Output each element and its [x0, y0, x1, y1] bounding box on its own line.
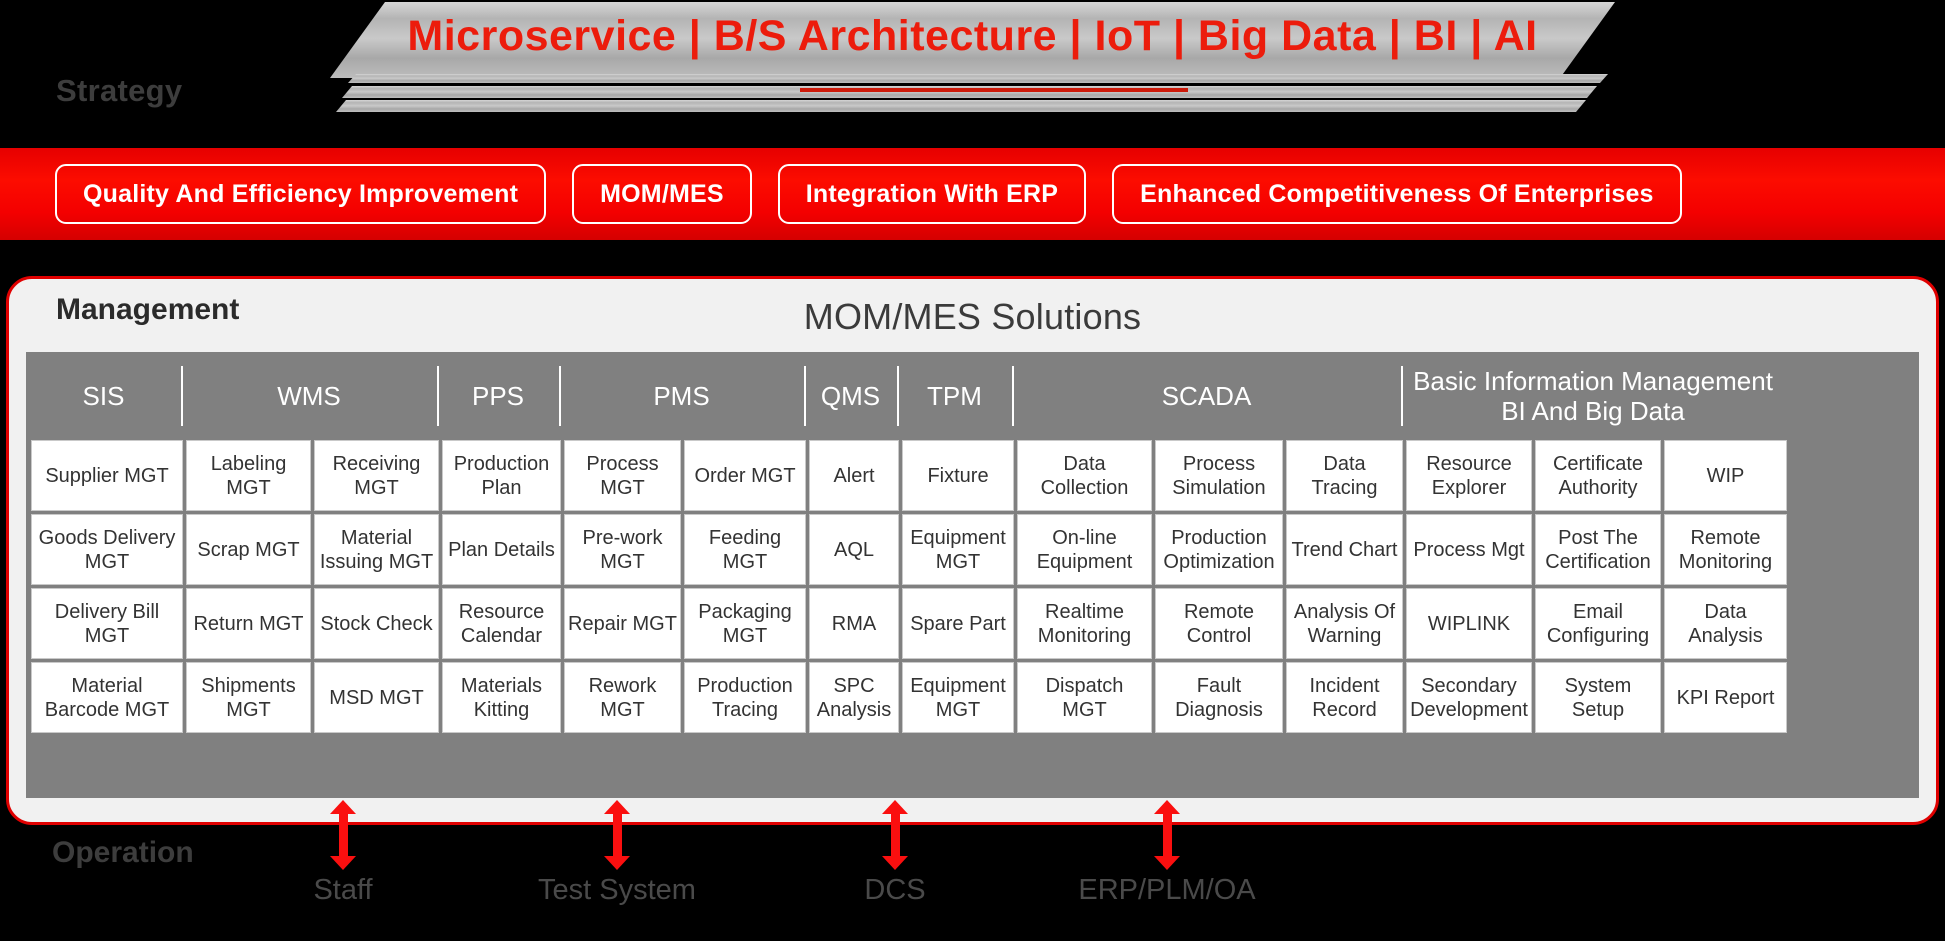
module-cell[interactable]: Fixture — [902, 440, 1014, 511]
module-cell[interactable]: Rework MGT — [564, 662, 681, 733]
module-cell[interactable]: Dispatch MGT — [1017, 662, 1152, 733]
banner-slab-4 — [336, 100, 1586, 112]
module-cell[interactable]: Data Collection — [1017, 440, 1152, 511]
table-row: Supplier MGTLabeling MGTReceiving MGTPro… — [31, 440, 1914, 511]
module-cell[interactable]: Plan Details — [442, 514, 561, 585]
arrow-shaft — [1163, 811, 1172, 859]
module-cell[interactable]: Realtime Monitoring — [1017, 588, 1152, 659]
module-cell[interactable]: Return MGT — [186, 588, 311, 659]
table-group-header: SIS — [26, 352, 181, 440]
operation-item-label: Staff — [228, 874, 458, 907]
banner-slab-2 — [348, 74, 1608, 83]
table-group-header: Basic Information ManagementBI And Big D… — [1401, 352, 1785, 440]
module-cell[interactable]: Spare Part — [902, 588, 1014, 659]
module-cell[interactable]: Incident Record — [1286, 662, 1403, 733]
arrow-head-up-icon — [330, 800, 356, 814]
module-cell[interactable]: Data Tracing — [1286, 440, 1403, 511]
operation-label: Operation — [52, 836, 194, 870]
module-cell[interactable]: Material Barcode MGT — [31, 662, 183, 733]
module-cell[interactable]: Scrap MGT — [186, 514, 311, 585]
module-cell[interactable]: Production Tracing — [684, 662, 806, 733]
double-arrow-icon — [1154, 800, 1180, 870]
page-title: MOM/MES Solutions — [0, 296, 1945, 338]
arrow-head-up-icon — [604, 800, 630, 814]
module-cell[interactable]: Analysis Of Warning — [1286, 588, 1403, 659]
module-cell[interactable]: WIPLINK — [1406, 588, 1532, 659]
module-cell[interactable]: WIP — [1664, 440, 1787, 511]
table-row: Material Barcode MGTShipments MGTMSD MGT… — [31, 662, 1914, 733]
table-row: Goods Delivery MGTScrap MGTMaterial Issu… — [31, 514, 1914, 585]
module-cell[interactable]: Resource Calendar — [442, 588, 561, 659]
operation-item: Test System — [502, 800, 732, 907]
objective-pill[interactable]: Integration With ERP — [778, 164, 1086, 224]
arrow-head-down-icon — [330, 856, 356, 870]
module-cell[interactable]: SPC Analysis — [809, 662, 899, 733]
module-cell[interactable]: Certificate Authority — [1535, 440, 1661, 511]
module-cell[interactable]: Packaging MGT — [684, 588, 806, 659]
module-cell[interactable]: RMA — [809, 588, 899, 659]
operation-item-label: ERP/PLM/OA — [1052, 874, 1282, 907]
module-cell[interactable]: Labeling MGT — [186, 440, 311, 511]
module-cell[interactable]: Email Configuring — [1535, 588, 1661, 659]
table-group-header: PMS — [559, 352, 804, 440]
module-cell[interactable]: Remote Monitoring — [1664, 514, 1787, 585]
table-body: Supplier MGTLabeling MGTReceiving MGTPro… — [26, 440, 1919, 738]
double-arrow-icon — [330, 800, 356, 870]
arrow-shaft — [891, 811, 900, 859]
objective-pill[interactable]: Quality And Efficiency Improvement — [55, 164, 546, 224]
strategy-banner: Microservice | B/S Architecture | IoT | … — [0, 0, 1945, 148]
module-cell[interactable]: Receiving MGT — [314, 440, 439, 511]
operation-item: ERP/PLM/OA — [1052, 800, 1282, 907]
tech-stack-title: Microservice | B/S Architecture | IoT | … — [330, 12, 1615, 61]
module-cell[interactable]: Resource Explorer — [1406, 440, 1532, 511]
table-group-header: SCADA — [1012, 352, 1401, 440]
module-cell[interactable]: Post The Certification — [1535, 514, 1661, 585]
module-cell[interactable]: Delivery Bill MGT — [31, 588, 183, 659]
solutions-table: SISWMSPPSPMSQMSTPMSCADABasic Information… — [26, 352, 1919, 798]
module-cell[interactable]: Supplier MGT — [31, 440, 183, 511]
module-cell[interactable]: KPI Report — [1664, 662, 1787, 733]
table-group-header: TPM — [897, 352, 1012, 440]
module-cell[interactable]: Process Simulation — [1155, 440, 1283, 511]
module-cell[interactable]: Alert — [809, 440, 899, 511]
slide-root: Microservice | B/S Architecture | IoT | … — [0, 0, 1945, 941]
module-cell[interactable]: Production Optimization — [1155, 514, 1283, 585]
module-cell[interactable]: Shipments MGT — [186, 662, 311, 733]
module-cell[interactable]: Data Analysis — [1664, 588, 1787, 659]
objective-pill[interactable]: Enhanced Competitiveness Of Enterprises — [1112, 164, 1682, 224]
module-cell[interactable]: Pre-work MGT — [564, 514, 681, 585]
module-cell[interactable]: Materials Kitting — [442, 662, 561, 733]
banner-underline — [800, 88, 1188, 92]
module-cell[interactable]: Process Mgt — [1406, 514, 1532, 585]
arrow-head-down-icon — [604, 856, 630, 870]
operation-item-label: Test System — [502, 874, 732, 907]
module-cell[interactable]: MSD MGT — [314, 662, 439, 733]
double-arrow-icon — [882, 800, 908, 870]
arrow-head-down-icon — [1154, 856, 1180, 870]
double-arrow-icon — [604, 800, 630, 870]
table-group-header: QMS — [804, 352, 897, 440]
objectives-band: Quality And Efficiency ImprovementMOM/ME… — [0, 148, 1945, 240]
table-row: Delivery Bill MGTReturn MGTStock CheckRe… — [31, 588, 1914, 659]
operation-item-label: DCS — [780, 874, 1010, 907]
operation-item: Staff — [228, 800, 458, 907]
module-cell[interactable]: Equipment MGT — [902, 514, 1014, 585]
module-cell[interactable]: Feeding MGT — [684, 514, 806, 585]
module-cell[interactable]: Remote Control — [1155, 588, 1283, 659]
module-cell[interactable]: Goods Delivery MGT — [31, 514, 183, 585]
module-cell[interactable]: Material Issuing MGT — [314, 514, 439, 585]
operation-item: DCS — [780, 800, 1010, 907]
module-cell[interactable]: Order MGT — [684, 440, 806, 511]
module-cell[interactable]: AQL — [809, 514, 899, 585]
module-cell[interactable]: System Setup — [1535, 662, 1661, 733]
arrow-head-up-icon — [1154, 800, 1180, 814]
module-cell[interactable]: On-line Equipment — [1017, 514, 1152, 585]
module-cell[interactable]: Stock Check — [314, 588, 439, 659]
module-cell[interactable]: Fault Diagnosis — [1155, 662, 1283, 733]
arrow-head-down-icon — [882, 856, 908, 870]
strategy-label: Strategy — [56, 73, 182, 109]
arrow-head-up-icon — [882, 800, 908, 814]
module-cell[interactable]: Equipment MGT — [902, 662, 1014, 733]
module-cell[interactable]: Process MGT — [564, 440, 681, 511]
table-group-header: WMS — [181, 352, 437, 440]
module-cell[interactable]: Repair MGT — [564, 588, 681, 659]
module-cell[interactable]: Trend Chart — [1286, 514, 1403, 585]
module-cell[interactable]: Secondary Development — [1406, 662, 1532, 733]
arrow-shaft — [339, 811, 348, 859]
objective-pill[interactable]: MOM/MES — [572, 164, 752, 224]
module-cell[interactable]: Production Plan — [442, 440, 561, 511]
table-group-header: PPS — [437, 352, 559, 440]
table-group-header-row: SISWMSPPSPMSQMSTPMSCADABasic Information… — [26, 352, 1919, 440]
arrow-shaft — [613, 811, 622, 859]
